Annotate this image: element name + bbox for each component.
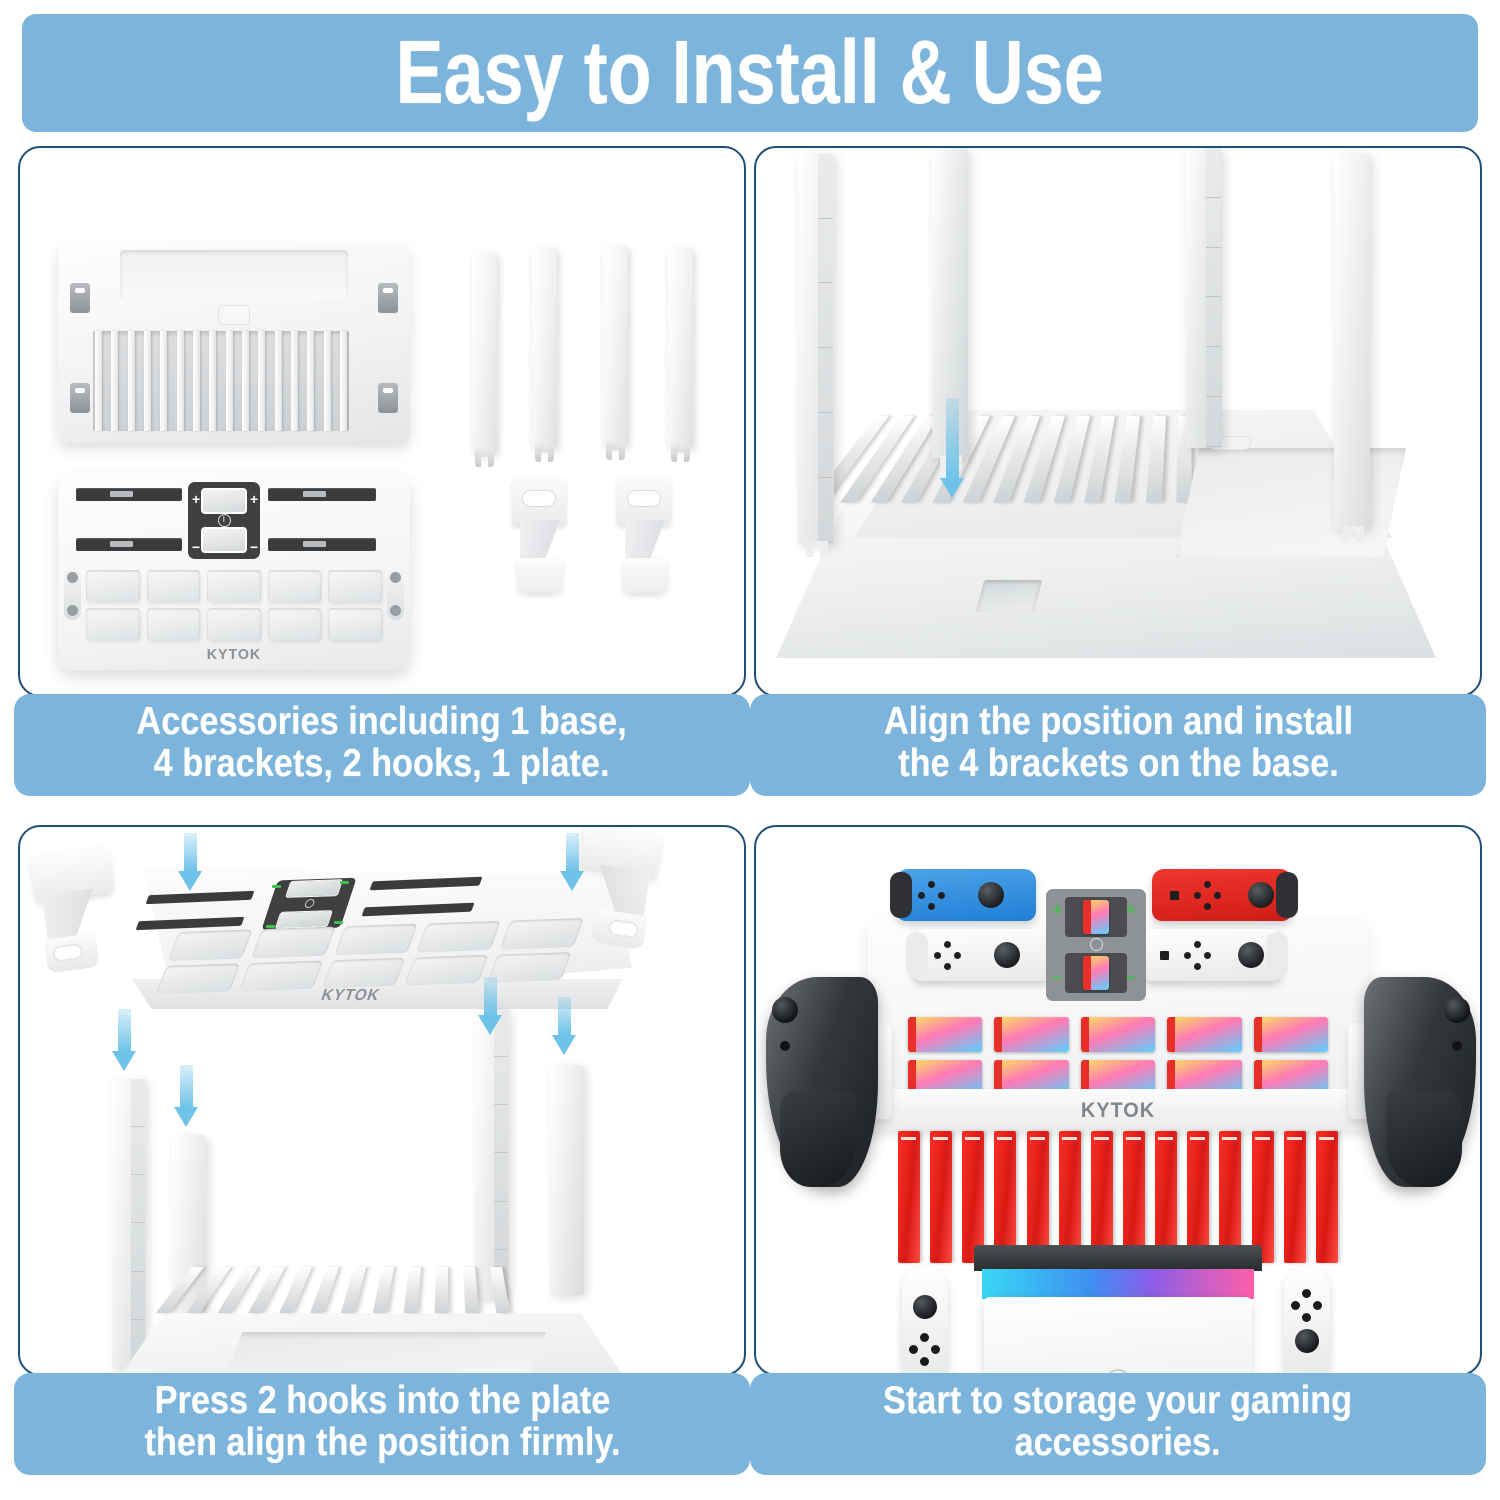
hook-left [30,846,124,976]
joycon-red [1152,869,1292,921]
base-bracket-mount [378,283,398,313]
joycon-white-right [1142,929,1282,981]
joycon-rail [268,488,376,501]
game-box [1187,1131,1209,1263]
base-center-button [218,305,250,325]
game-box [1252,1131,1274,1263]
power-icon [1090,938,1103,951]
install-arrow-down-icon [560,833,584,891]
base-console-trough [1176,448,1406,558]
game-box [898,1131,920,1263]
base-bracket-mount [378,383,398,413]
base-tray [58,243,410,443]
align-brackets-stage [756,148,1480,695]
base-card-slots [156,1267,510,1313]
plus-sign-label: + [192,492,200,506]
game-box [962,1131,984,1263]
base-console-trough [216,1332,546,1376]
minus-sign-label: − [1052,969,1062,986]
bracket-part [668,248,693,448]
panel-image-press-hooks: KYTOK [18,825,746,1376]
steps-grid: + + − − KYTOK Accessories [0,146,1500,1500]
step-panel-assembled: + + − − [754,825,1482,1485]
install-arrow-down-icon [174,1065,198,1127]
plus-sign-label: + [1126,901,1136,918]
plus-indicator [340,881,349,884]
plate-side-post [387,568,404,620]
power-icon [303,899,315,908]
joycon-blue [896,869,1036,921]
bracket-installed [550,1065,584,1295]
game-box [1155,1131,1177,1263]
bracket-installed [798,154,834,544]
caption-text: Start to storage your gaming accessories… [883,1380,1352,1464]
brand-logo: KYTOK [67,646,401,663]
base-bracket-mount [70,283,90,313]
pro-controller-left [766,977,878,1187]
plus-sign-label: + [250,492,258,506]
game-box [1123,1131,1145,1263]
base-card-slots [93,331,349,431]
install-arrow-down-icon [178,833,202,891]
panel-image-assembled: + + − − [754,825,1482,1376]
caption-text: Press 2 hooks into the plate then align … [144,1380,620,1464]
plus-indicator [272,885,281,888]
center-card-slot [201,527,247,553]
bracket-part [532,248,557,448]
base-card-slots [810,416,1223,503]
plate-side-post [64,568,81,620]
game-box [1284,1131,1306,1263]
brand-logo: KYTOK [319,987,383,1005]
joycon-rail [268,538,376,551]
panel-image-align-brackets [754,146,1482,697]
press-hooks-stage: KYTOK [20,827,744,1374]
header-banner: Easy to Install & Use [22,14,1478,132]
game-card [1254,1017,1328,1052]
bracket-installed [112,1079,146,1369]
minus-sign-label: − [1126,969,1136,986]
install-arrow-down-icon [552,997,576,1055]
hook-part [512,478,566,593]
caption-text: Accessories including 1 base, 4 brackets… [137,701,627,785]
game-card [1083,956,1109,990]
infographic-page: Easy to Install & Use [0,0,1500,1500]
game-card [994,1017,1068,1052]
minus-indicator [334,921,343,924]
center-card-slot [1065,953,1127,993]
parts-stage: + + − − KYTOK [20,148,744,695]
base-back-lip [120,250,348,300]
game-card [1167,1017,1241,1052]
game-card-slots [908,1017,1328,1095]
game-box [1059,1131,1081,1263]
center-card-slot [201,488,247,514]
install-arrow-down-icon [112,1009,136,1071]
base-bracket-notch [976,580,1043,612]
console-dock-shell: NINTENDO SWITCH [984,1297,1252,1376]
minus-sign-label: − [192,540,200,554]
bracket-part [472,253,497,453]
install-arrow-down-icon [940,398,964,498]
step-panel-parts: + + − − KYTOK Accessories [18,146,746,806]
game-box [1091,1131,1113,1263]
hook-part [617,478,671,593]
plus-sign-label: + [1052,901,1062,918]
assembled-stage: + + − − [756,827,1480,1374]
pro-controller-right [1364,977,1476,1187]
game-box [1219,1131,1241,1263]
bracket-part [603,246,628,446]
joycon-rail [76,488,182,501]
center-card-slot [1065,897,1127,937]
base-bracket-mount [70,383,90,413]
panel-image-parts: + + − − KYTOK [18,146,746,697]
minus-sign-label: − [250,540,258,554]
caption-text: Align the position and install the 4 bra… [883,701,1352,785]
console-top-bar [974,1245,1262,1271]
caption-bar-step-2: Align the position and install the 4 bra… [750,694,1486,796]
joycon-rail [76,538,182,551]
game-box-row [898,1131,1338,1263]
caption-bar-step-3: Press 2 hooks into the plate then align … [14,1373,750,1475]
switch-console: NINTENDO SWITCH [940,1245,1296,1376]
game-box [1027,1131,1049,1263]
step-panel-press-hooks: KYTOK [18,825,746,1485]
power-icon [218,514,231,527]
bracket-installed [1186,148,1222,448]
bracket-installed [1334,154,1370,529]
console-screen [982,1269,1254,1299]
game-box [930,1131,952,1263]
caption-bar-step-4: Start to storage your gaming accessories… [750,1373,1486,1475]
step-panel-align-brackets: Align the position and install the 4 bra… [754,146,1482,806]
minus-indicator [266,925,275,928]
caption-bar-step-1: Accessories including 1 base, 4 brackets… [14,694,750,796]
game-box [1316,1131,1338,1263]
game-box [994,1131,1016,1263]
game-card [1083,900,1109,934]
plate-part: + + − − KYTOK [58,474,410,670]
game-card [1081,1017,1155,1052]
plate-card-slots [86,570,382,640]
install-arrow-down-icon [478,977,502,1035]
game-card [908,1017,982,1052]
bracket-installed [475,1009,509,1299]
page-title: Easy to Install & Use [396,28,1104,118]
joycon-white-left [912,929,1052,981]
